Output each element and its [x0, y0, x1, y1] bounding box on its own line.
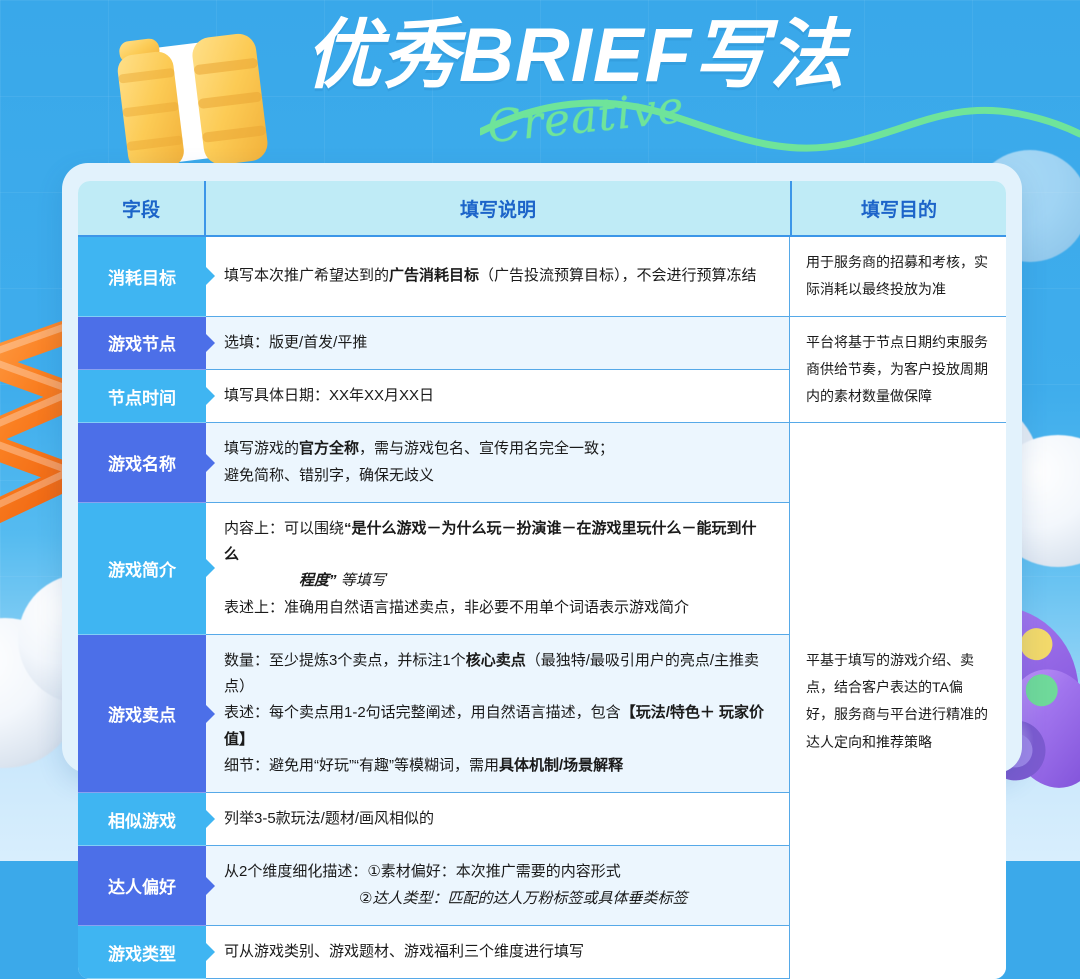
field-description-1: 选填：版更/首发/平推	[206, 317, 790, 370]
brief-table-card: 字段 填写说明 填写目的 消耗目标填写本次推广希望达到的广告消耗目标（广告投流预…	[62, 163, 1022, 773]
field-description-8: 可从游戏类别、游戏题材、游戏福利三个维度进行填写	[206, 926, 790, 979]
column-header-desc: 填写说明	[206, 181, 790, 237]
page-title: 优秀BRIEF写法	[305, 18, 885, 94]
field-description-0: 填写本次推广希望达到的广告消耗目标（广告投流预算目标），不会进行预算冻结	[206, 237, 790, 317]
field-description-7: 从2个维度细化描述：①素材偏好：本次推广需要的内容形式 ②达人类型：匹配的达人万…	[206, 846, 790, 926]
field-description-6: 列举3-5款玩法/题材/画风相似的	[206, 793, 790, 846]
field-purpose-3: 平基于填写的游戏介绍、卖点，结合客户表达的TA偏好，服务商与平台进行精准的达人定…	[790, 423, 1006, 979]
folder-icon	[96, 22, 286, 182]
field-label-6: 相似游戏	[78, 793, 206, 846]
field-label-5: 游戏卖点	[78, 635, 206, 793]
column-header-purpose: 填写目的	[790, 181, 1006, 237]
field-label-8: 游戏类型	[78, 926, 206, 979]
field-purpose-1: 平台将基于节点日期约束服务商供给节奏，为客户投放周期内的素材数量做保障	[790, 317, 1006, 424]
table-row: 游戏名称填写游戏的官方全称，需与游戏包名、宣传用名完全一致；避免简称、错别字，确…	[78, 423, 1006, 503]
field-label-3: 游戏名称	[78, 423, 206, 503]
field-description-2: 填写具体日期：XX年XX月XX日	[206, 370, 790, 423]
brief-table: 字段 填写说明 填写目的 消耗目标填写本次推广希望达到的广告消耗目标（广告投流预…	[78, 181, 1006, 979]
field-description-3: 填写游戏的官方全称，需与游戏包名、宣传用名完全一致；避免简称、错别字，确保无歧义	[206, 423, 790, 503]
field-label-4: 游戏简介	[78, 503, 206, 635]
table-body: 消耗目标填写本次推广希望达到的广告消耗目标（广告投流预算目标），不会进行预算冻结…	[78, 237, 1006, 979]
table-header-row: 字段 填写说明 填写目的	[78, 181, 1006, 237]
field-purpose-0: 用于服务商的招募和考核，实际消耗以最终投放为准	[790, 237, 1006, 317]
field-description-5: 数量：至少提炼3个卖点，并标注1个核心卖点（最独特/最吸引用户的亮点/主推卖点）…	[206, 635, 790, 793]
column-header-field: 字段	[78, 181, 206, 237]
field-label-0: 消耗目标	[78, 237, 206, 317]
table-row: 游戏节点选填：版更/首发/平推平台将基于节点日期约束服务商供给节奏，为客户投放周…	[78, 317, 1006, 370]
table-row: 消耗目标填写本次推广希望达到的广告消耗目标（广告投流预算目标），不会进行预算冻结…	[78, 237, 1006, 317]
field-label-7: 达人偏好	[78, 846, 206, 926]
field-description-4: 内容上：可以围绕“是什么游戏－为什么玩－扮演谁－在游戏里玩什么－能玩到什么 程度…	[206, 503, 790, 635]
page-header: 优秀BRIEF写法 Creative	[0, 0, 1080, 175]
table-head: 字段 填写说明 填写目的	[78, 181, 1006, 237]
field-label-2: 节点时间	[78, 370, 206, 423]
field-label-1: 游戏节点	[78, 317, 206, 370]
